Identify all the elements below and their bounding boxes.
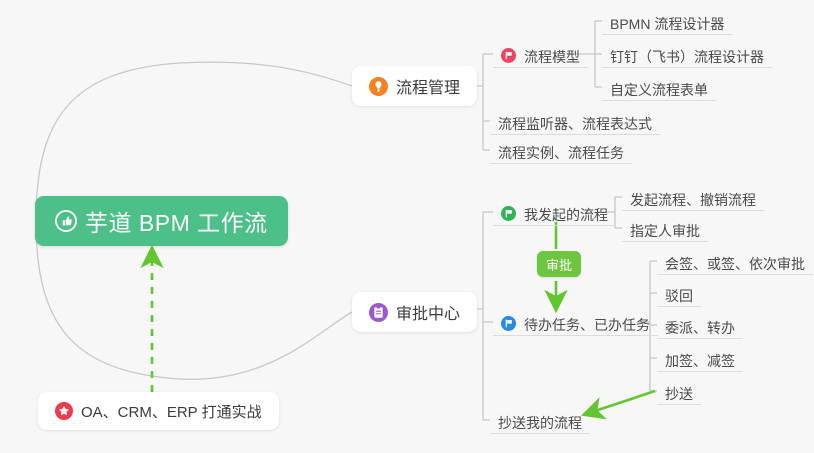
node-process-management-label: 流程管理 [396, 74, 460, 98]
node-bpmn-designer-label: BPMN 流程设计器 [610, 17, 724, 31]
node-my-initiated-process-label: 我发起的流程 [524, 208, 608, 222]
node-countersign-orsign-sequential[interactable]: 会签、或签、依次审批 [657, 247, 813, 275]
node-process-model[interactable]: 流程模型 [493, 40, 588, 68]
node-add-remove-sign[interactable]: 加签、减签 [657, 344, 743, 372]
red-star-icon [55, 402, 73, 420]
node-carbon-copy[interactable]: 抄送 [657, 377, 701, 405]
node-my-initiated-process[interactable]: 我发起的流程 [493, 198, 616, 226]
node-process-listener-expression[interactable]: 流程监听器、流程表达式 [490, 107, 660, 135]
clipboard-icon [369, 303, 388, 322]
node-add-remove-sign-label: 加签、减签 [665, 354, 735, 368]
node-start-cancel-process[interactable]: 发起流程、撤销流程 [622, 183, 764, 211]
node-custom-process-form[interactable]: 自定义流程表单 [602, 73, 716, 101]
node-countersign-orsign-sequential-label: 会签、或签、依次审批 [665, 257, 805, 271]
node-integration-practice[interactable]: OA、CRM、ERP 打通实战 [38, 392, 279, 430]
carbon-copy-arrow [586, 391, 655, 414]
node-dingtalk-feishu-designer-label: 钉钉（飞书）流程设计器 [610, 50, 764, 64]
node-process-listener-expression-label: 流程监听器、流程表达式 [498, 117, 652, 131]
root-node[interactable]: 芋道 BPM 工作流 [35, 196, 288, 246]
lightbulb-pin-icon [369, 77, 388, 96]
node-delegate-transfer[interactable]: 委派、转办 [657, 311, 743, 339]
green-flag-icon [501, 206, 516, 221]
red-flag-icon [501, 48, 516, 63]
node-todo-done-tasks-label: 待办任务、已办任务 [524, 318, 650, 332]
node-dingtalk-feishu-designer[interactable]: 钉钉（飞书）流程设计器 [602, 40, 772, 68]
thumbs-up-icon [55, 210, 77, 232]
node-integration-practice-label: OA、CRM、ERP 打通实战 [81, 401, 262, 422]
node-process-instance-task[interactable]: 流程实例、流程任务 [490, 136, 632, 164]
blue-flag-icon [501, 316, 516, 331]
node-delegate-transfer-label: 委派、转办 [665, 321, 735, 335]
node-cc-to-me-process[interactable]: 抄送我的流程 [490, 406, 590, 434]
mindmap-canvas: 芋道 BPM 工作流 流程管理 流程模型 BPMN 流程设计器 钉钉（飞书）流程… [0, 0, 814, 453]
node-assignee-approval-label: 指定人审批 [630, 224, 700, 238]
node-approval-flow-badge[interactable]: 审批 [537, 251, 581, 277]
node-start-cancel-process-label: 发起流程、撤销流程 [630, 193, 756, 207]
node-reject-label: 驳回 [665, 289, 693, 303]
node-assignee-approval[interactable]: 指定人审批 [622, 214, 708, 242]
node-process-management[interactable]: 流程管理 [352, 66, 477, 106]
node-todo-done-tasks[interactable]: 待办任务、已办任务 [493, 308, 658, 336]
node-approval-flow-badge-label: 审批 [546, 255, 572, 274]
node-process-model-label: 流程模型 [524, 50, 580, 64]
node-bpmn-designer[interactable]: BPMN 流程设计器 [602, 7, 732, 35]
node-carbon-copy-label: 抄送 [665, 387, 693, 401]
node-cc-to-me-process-label: 抄送我的流程 [498, 416, 582, 430]
node-process-instance-task-label: 流程实例、流程任务 [498, 146, 624, 160]
root-label: 芋道 BPM 工作流 [85, 204, 268, 238]
node-approval-center[interactable]: 审批中心 [352, 292, 477, 332]
node-reject[interactable]: 驳回 [657, 279, 701, 307]
node-custom-process-form-label: 自定义流程表单 [610, 83, 708, 97]
node-approval-center-label: 审批中心 [396, 300, 460, 324]
